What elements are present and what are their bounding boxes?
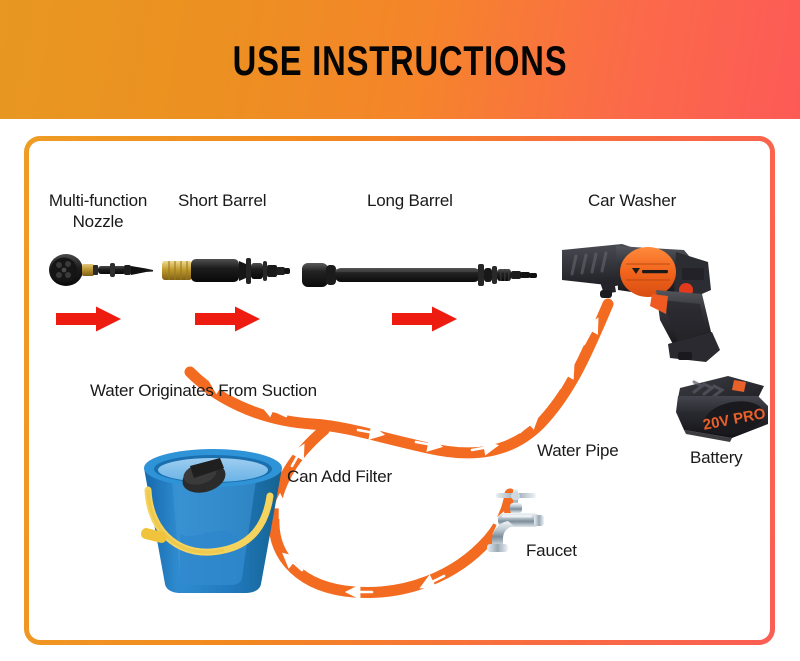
car-washer-gun-art bbox=[556, 228, 744, 373]
header-banner: USE INSTRUCTIONS bbox=[0, 0, 800, 119]
assembly-arrow-2-icon bbox=[195, 306, 261, 337]
page-title: USE INSTRUCTIONS bbox=[88, 38, 712, 84]
label-can-add-filter: Can Add Filter bbox=[287, 466, 392, 487]
label-water-suction: Water Originates From Suction bbox=[90, 380, 317, 401]
label-multi-function-nozzle: Multi-function Nozzle bbox=[34, 190, 162, 232]
label-short-barrel: Short Barrel bbox=[178, 190, 266, 211]
assembly-arrow-1-icon bbox=[56, 306, 122, 337]
use-instructions-page: USE INSTRUCTIONS bbox=[0, 0, 800, 661]
assembly-arrow-3-icon bbox=[392, 306, 458, 337]
water-bucket-art bbox=[128, 438, 298, 603]
multi-function-nozzle-art bbox=[46, 248, 156, 299]
label-car-washer: Car Washer bbox=[588, 190, 676, 211]
label-water-pipe: Water Pipe bbox=[537, 440, 618, 461]
short-barrel-art bbox=[162, 252, 290, 295]
faucet-tap-art bbox=[478, 487, 550, 562]
label-long-barrel: Long Barrel bbox=[367, 190, 453, 211]
long-barrel-art bbox=[302, 258, 538, 297]
battery-pack-art: 20V PRO bbox=[672, 372, 776, 449]
label-battery: Battery bbox=[690, 447, 742, 468]
